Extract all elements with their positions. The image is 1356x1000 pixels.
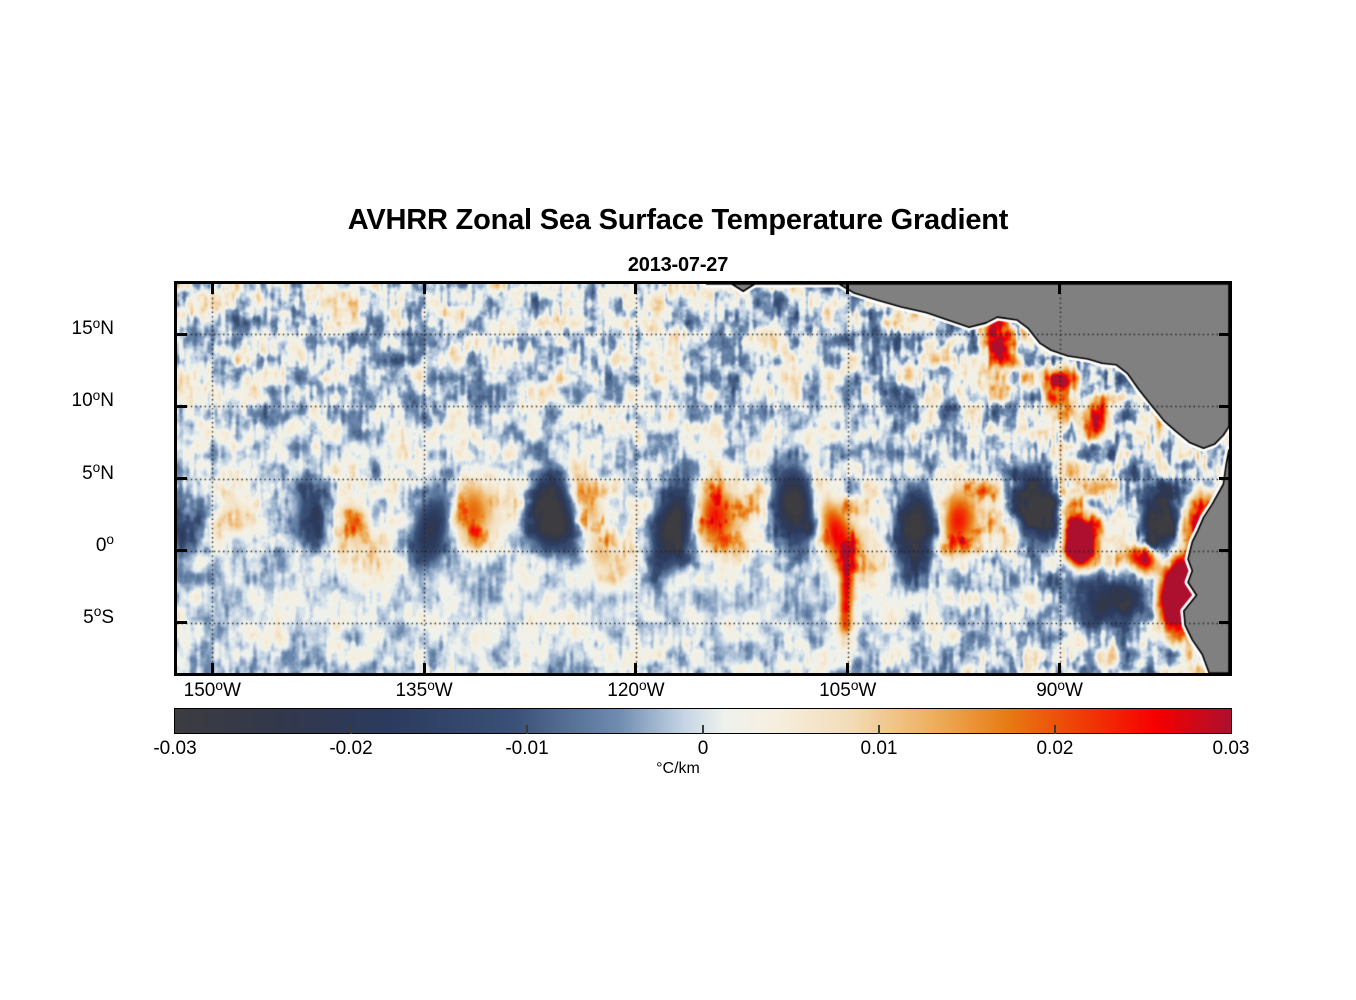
- x-tick-label: 105oW: [778, 680, 918, 702]
- colorbar-tick-mark: [702, 725, 704, 734]
- colorbar-tick-mark: [1054, 725, 1056, 734]
- colorbar-tick-mark: [878, 725, 880, 734]
- x-tick-mark: [1058, 663, 1061, 674]
- colorbar-tick-label: -0.01: [447, 738, 607, 760]
- y-tick-mark: [1219, 549, 1230, 552]
- y-tick-label: 5oN: [0, 463, 114, 485]
- y-tick-mark: [1219, 621, 1230, 624]
- x-tick-label: 150oW: [142, 680, 282, 702]
- figure-canvas: AVHRR Zonal Sea Surface Temperature Grad…: [0, 0, 1356, 1000]
- y-tick-mark: [1219, 477, 1230, 480]
- colorbar: [174, 708, 1232, 734]
- y-tick-mark: [176, 333, 187, 336]
- x-tick-mark: [634, 663, 637, 674]
- y-tick-mark: [1219, 333, 1230, 336]
- x-tick-mark: [423, 283, 426, 294]
- y-tick-mark: [176, 549, 187, 552]
- colorbar-tick-label: -0.03: [95, 738, 255, 760]
- x-tick-label: 120oW: [566, 680, 706, 702]
- x-tick-mark: [846, 283, 849, 294]
- x-tick-mark: [211, 663, 214, 674]
- x-tick-label: 90oW: [990, 680, 1130, 702]
- y-tick-label: 10oN: [0, 390, 114, 412]
- x-tick-mark: [634, 283, 637, 294]
- y-tick-label: 0o: [0, 535, 114, 557]
- map-gridlines: [177, 284, 1229, 673]
- page-title: AVHRR Zonal Sea Surface Temperature Grad…: [0, 204, 1356, 237]
- y-tick-label: 15oN: [0, 318, 114, 340]
- colorbar-tick-label: 0.02: [975, 738, 1135, 760]
- colorbar-tick-label: -0.02: [271, 738, 431, 760]
- x-tick-label: 135oW: [354, 680, 494, 702]
- colorbar-tick-mark: [526, 725, 528, 734]
- colorbar-tick-label: 0: [623, 738, 783, 760]
- colorbar-tick-label: 0.01: [799, 738, 959, 760]
- y-tick-mark: [176, 621, 187, 624]
- chart-subtitle: 2013-07-27: [0, 254, 1356, 277]
- x-tick-mark: [1058, 283, 1061, 294]
- x-tick-mark: [423, 663, 426, 674]
- y-tick-mark: [176, 477, 187, 480]
- y-tick-label: 5oS: [0, 607, 114, 629]
- map-axes: [174, 281, 1232, 676]
- y-tick-mark: [1219, 405, 1230, 408]
- y-tick-mark: [176, 405, 187, 408]
- colorbar-tick-mark: [350, 725, 352, 734]
- x-tick-mark: [211, 283, 214, 294]
- colorbar-tick-label: 0.03: [1151, 738, 1311, 760]
- x-tick-mark: [846, 663, 849, 674]
- colorbar-unit-label: °C/km: [0, 760, 1356, 778]
